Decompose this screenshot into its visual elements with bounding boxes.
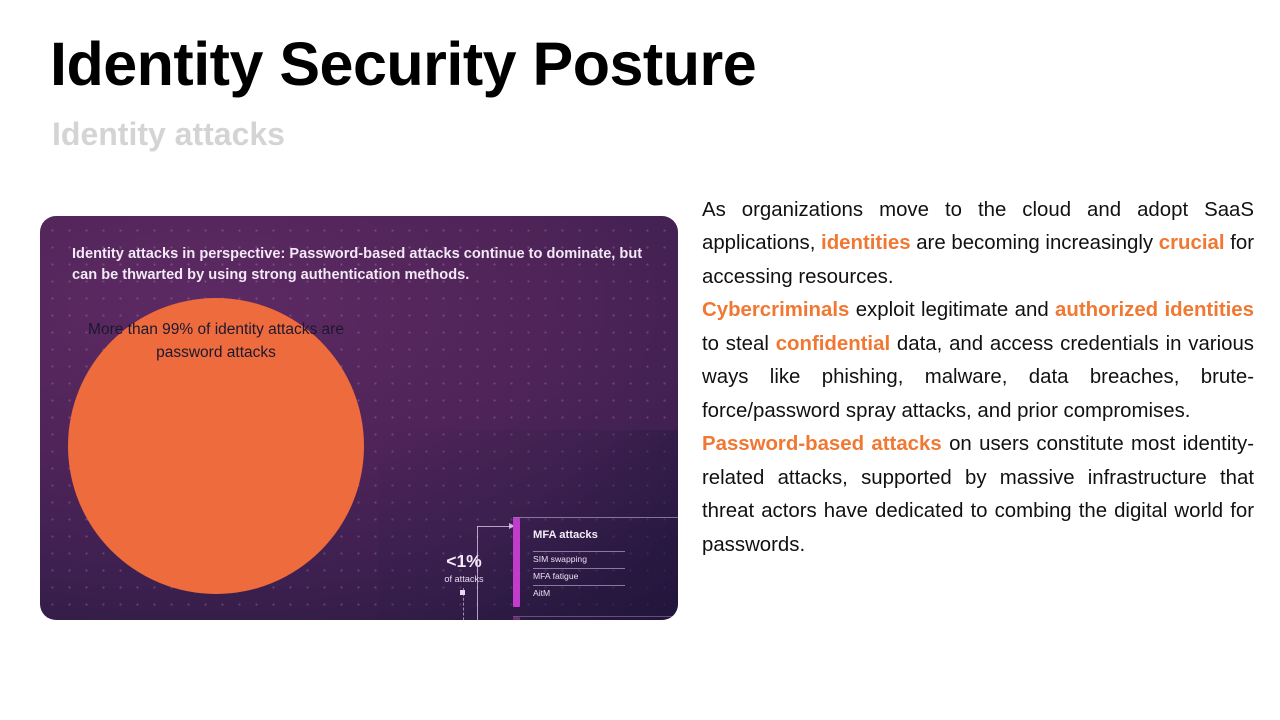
category-divider: [513, 616, 678, 617]
text-run: exploit legitimate and: [849, 299, 1055, 321]
list-item: MFA fatigue: [533, 568, 625, 585]
list-item: SIM swapping: [533, 551, 625, 568]
body-text-column: As organizations move to the cloud and a…: [702, 194, 1254, 562]
connector-line-up: [477, 526, 478, 620]
text-run: to steal: [702, 333, 776, 355]
category-title: MFA attacks: [533, 529, 678, 543]
highlight-confidential: confidential: [776, 333, 890, 355]
category-item-list: SIM swapping MFA fatigue AitM: [513, 551, 678, 603]
highlight-authorized-identities: authorized identities: [1055, 299, 1254, 321]
page-title: Identity Security Posture: [50, 34, 756, 95]
slide-root: Identity Security Posture Identity attac…: [0, 0, 1280, 720]
highlight-identities: identities: [821, 232, 911, 254]
category-accent-bar-postauth: [513, 617, 520, 620]
paragraph-1: As organizations move to the cloud and a…: [702, 194, 1254, 294]
category-block-mfa: MFA attacks SIM swapping MFA fatigue Ait…: [513, 529, 678, 602]
highlight-cybercriminals: Cybercriminals: [702, 299, 849, 321]
page-subtitle: Identity attacks: [52, 118, 285, 150]
circle-lead-text: More than 99% of identity attacks are pa…: [68, 319, 364, 364]
minority-caption: of attacks: [424, 574, 504, 584]
highlight-password-based-attacks: Password-based attacks: [702, 433, 942, 455]
infographic-headline: Identity attacks in perspective: Passwor…: [72, 244, 652, 285]
highlight-crucial: crucial: [1159, 232, 1225, 254]
paragraph-2: Cybercriminals exploit legitimate and au…: [702, 294, 1254, 428]
dashed-connector: [463, 588, 464, 620]
text-run: are becoming increasingly: [911, 232, 1159, 254]
infographic-panel: Identity attacks in perspective: Passwor…: [40, 216, 678, 620]
arrow-to-mfa-icon: [477, 526, 514, 527]
paragraph-3: Password-based attacks on users constitu…: [702, 428, 1254, 562]
minority-percent: <1%: [428, 552, 500, 571]
category-divider: [513, 517, 678, 518]
list-item: AitM: [533, 585, 625, 602]
